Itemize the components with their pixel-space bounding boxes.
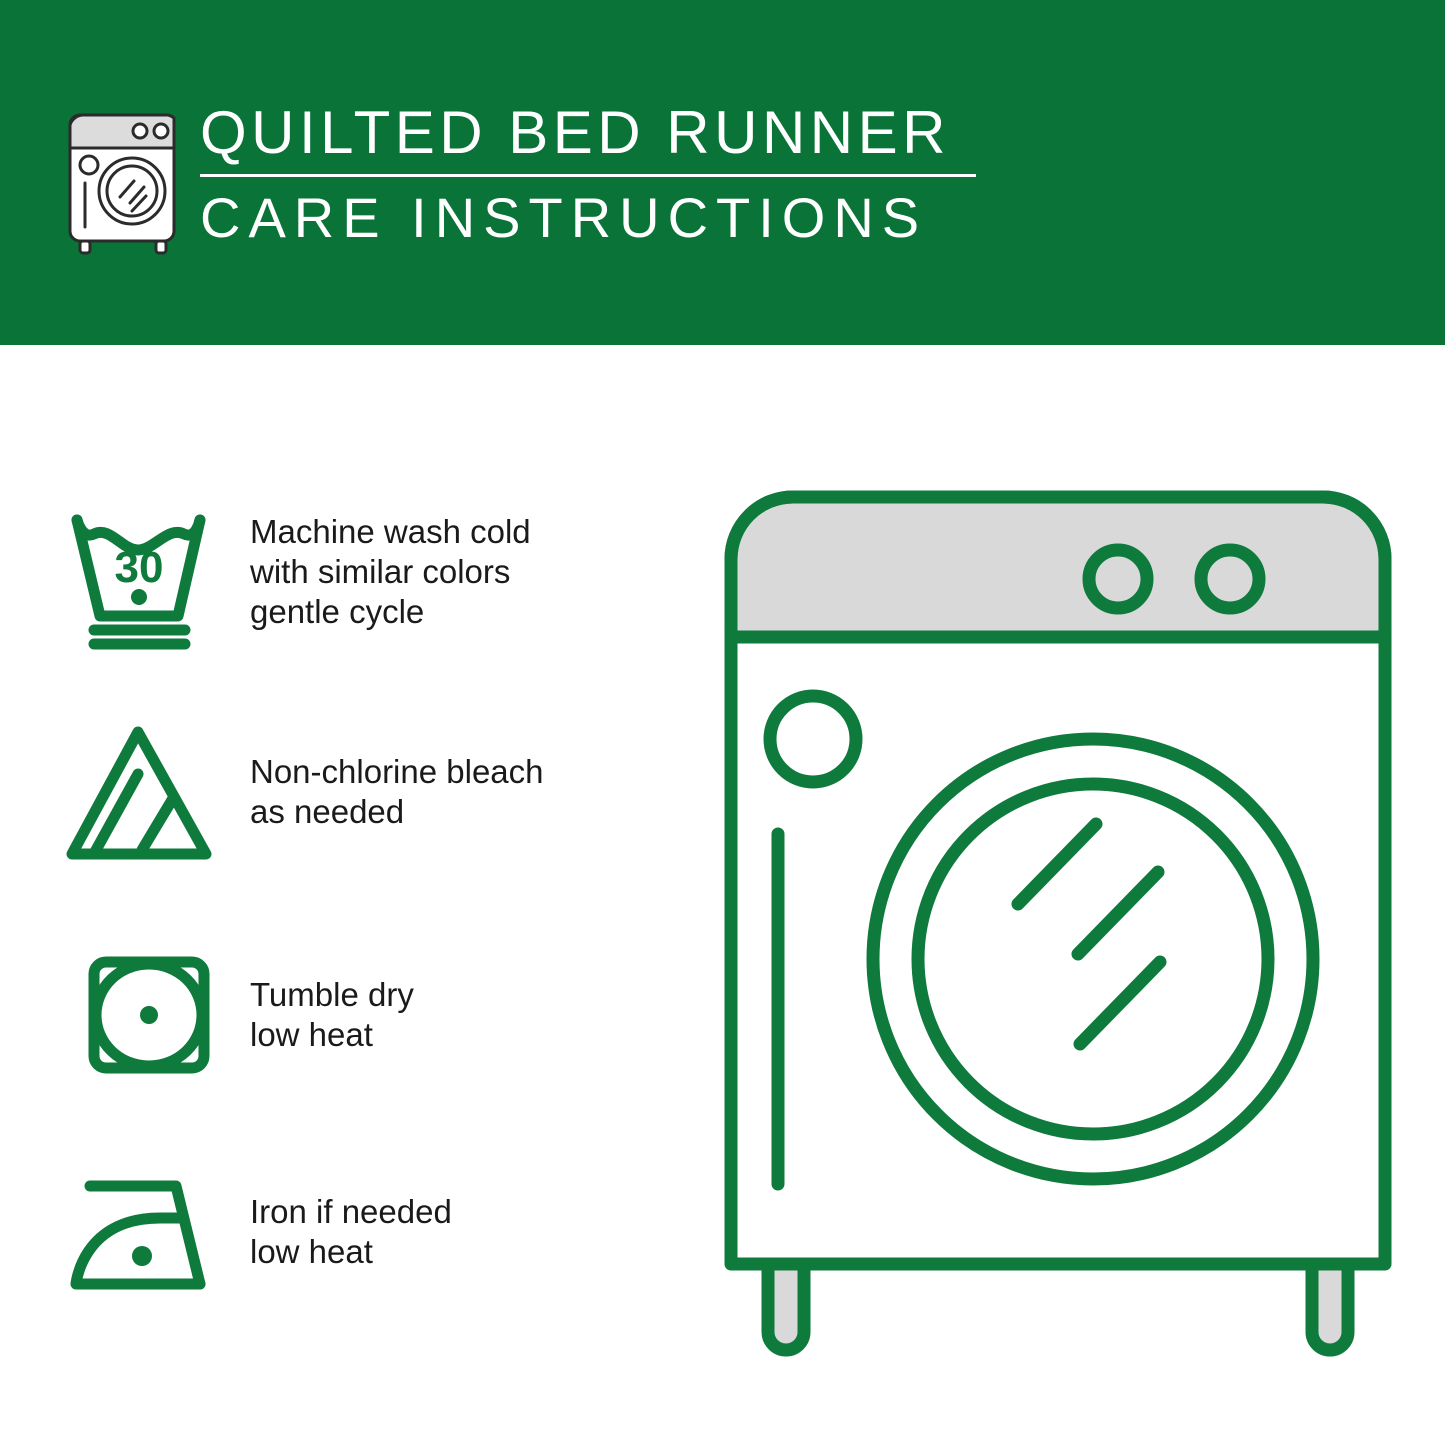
iron-low-heat-icon xyxy=(60,1152,230,1312)
care-row-dry: Tumble dry low heat xyxy=(60,935,680,1095)
care-row-bleach: Non-chlorine bleach as needed xyxy=(60,712,680,872)
care-instructions-page: QUILTED BED RUNNER CARE INSTRUCTIONS 30 xyxy=(0,0,1445,1445)
care-label-bleach: Non-chlorine bleach as needed xyxy=(250,752,544,832)
tumble-dry-low-icon xyxy=(60,935,230,1095)
page-title: QUILTED BED RUNNER xyxy=(200,100,990,166)
care-label-line: as needed xyxy=(250,792,544,832)
leg-right xyxy=(1312,1264,1348,1350)
bleach-triangle-icon xyxy=(60,712,230,872)
door-inner-ring xyxy=(918,784,1268,1134)
care-label-wash: Machine wash cold with similar colors ge… xyxy=(250,512,531,632)
water-line xyxy=(1078,872,1158,954)
care-label-line: low heat xyxy=(250,1232,452,1272)
page-subtitle: CARE INSTRUCTIONS xyxy=(200,187,990,249)
care-row-wash: 30 Machine wash cold with similar colors… xyxy=(60,492,680,652)
wash-temperature-value: 30 xyxy=(115,543,164,592)
water-line xyxy=(1080,962,1160,1044)
header-text-block: QUILTED BED RUNNER CARE INSTRUCTIONS xyxy=(200,100,990,249)
door-outer-ring xyxy=(873,739,1313,1179)
care-label-line: gentle cycle xyxy=(250,592,531,632)
title-divider xyxy=(200,174,976,177)
care-label-line: Non-chlorine bleach xyxy=(250,752,544,792)
care-row-iron: Iron if needed low heat xyxy=(60,1152,680,1312)
front-load-washing-machine-illustration xyxy=(718,484,1398,1364)
care-label-line: low heat xyxy=(250,1015,414,1055)
care-label-line: Tumble dry xyxy=(250,975,414,1015)
care-label-line: Iron if needed xyxy=(250,1192,452,1232)
header-band: QUILTED BED RUNNER CARE INSTRUCTIONS xyxy=(0,0,1445,345)
care-label-line: with similar colors xyxy=(250,552,531,592)
care-label-iron: Iron if needed low heat xyxy=(250,1192,452,1272)
care-label-line: Machine wash cold xyxy=(250,512,531,552)
control-panel xyxy=(731,497,1385,637)
wash-tub-30-icon: 30 xyxy=(60,492,230,652)
dispenser-circle xyxy=(770,696,856,782)
leg-left xyxy=(768,1264,804,1350)
washing-machine-icon xyxy=(62,103,190,255)
water-line xyxy=(1018,824,1096,904)
care-label-dry: Tumble dry low heat xyxy=(250,975,414,1055)
